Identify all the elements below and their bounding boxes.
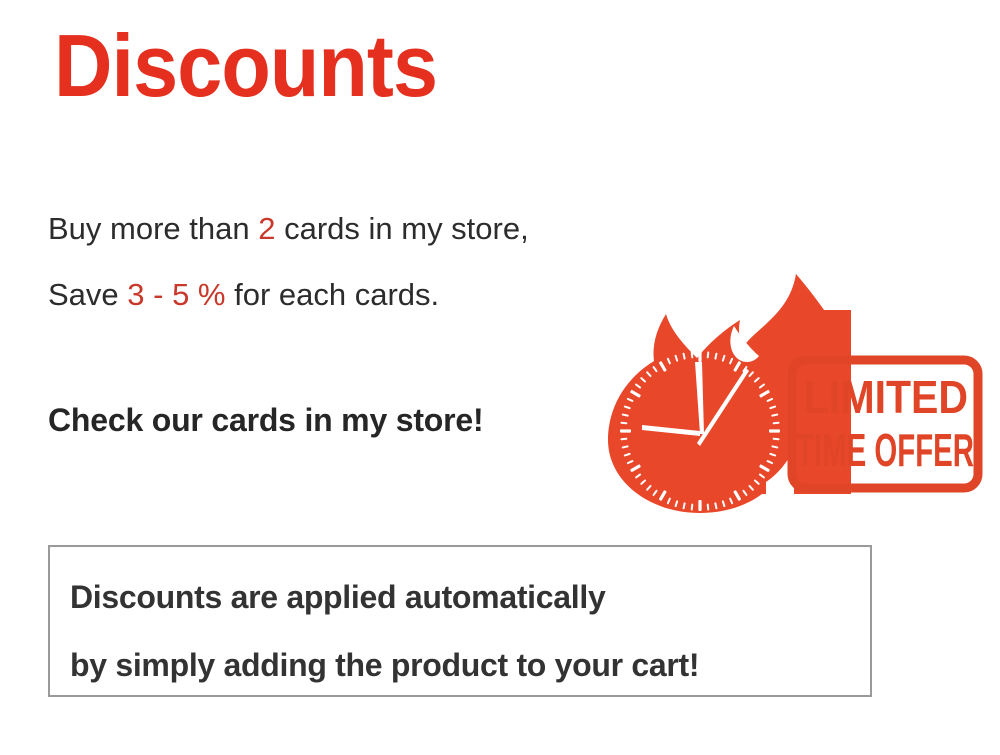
offer-line-1-before: Buy more than: [48, 211, 258, 246]
offer-line-1-highlight: 2: [258, 211, 275, 246]
auto-discount-note-inner: Discounts are applied automatically by s…: [70, 563, 860, 699]
offer-line-2-after: for each cards.: [226, 277, 440, 312]
limited-time-offer-graphic: LIMITED TIME OFFER: [596, 268, 988, 516]
offer-line-1-after: cards in my store,: [275, 211, 528, 246]
auto-discount-note-box: Discounts are applied automatically by s…: [48, 545, 872, 697]
limited-time-offer-badge: LIMITED TIME OFFER: [792, 360, 978, 488]
offer-line-2-highlight: 3 - 5 %: [127, 277, 225, 312]
note-line-1: Discounts are applied automatically: [70, 563, 860, 631]
offer-description: Buy more than 2 cards in my store, Save …: [48, 196, 688, 328]
offer-line-1: Buy more than 2 cards in my store,: [48, 196, 688, 262]
note-line-2: by simply adding the product to your car…: [70, 631, 860, 699]
cta-text: Check our cards in my store!: [48, 398, 483, 442]
offer-line-2: Save 3 - 5 % for each cards.: [48, 262, 688, 328]
discounts-promo-banner: Discounts Buy more than 2 cards in my st…: [0, 0, 1000, 755]
page-title: Discounts: [54, 18, 437, 114]
badge-line-1: LIMITED: [804, 371, 968, 423]
offer-line-2-before: Save: [48, 277, 127, 312]
badge-line-2: TIME OFFER: [796, 424, 974, 476]
